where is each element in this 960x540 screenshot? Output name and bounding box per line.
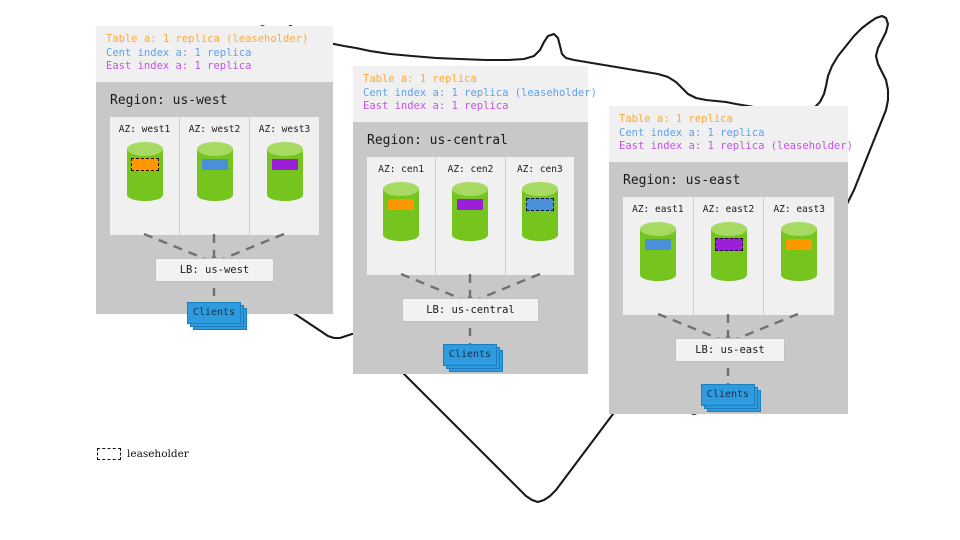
cylinder-bottom xyxy=(522,229,558,241)
legend-line-table: Table a: 1 replica xyxy=(363,73,578,87)
leaseholder-legend-label: leaseholder xyxy=(127,448,189,460)
leaseholder-legend: leaseholder xyxy=(97,448,189,460)
cylinder-bottom xyxy=(383,229,419,241)
az-label: AZ: east3 xyxy=(773,204,824,215)
az-column-cen3[interactable]: AZ: cen3 xyxy=(505,157,574,275)
database-cylinder-east1[interactable] xyxy=(640,222,676,288)
cylinder-bottom xyxy=(640,269,676,281)
az-panel-us-central: AZ: cen1 AZ: cen2 xyxy=(367,157,574,275)
legend-line-cent: Cent index a: 1 replica (leaseholder) xyxy=(363,87,578,101)
az-label: AZ: west2 xyxy=(189,124,240,135)
cylinder-bottom xyxy=(267,189,303,201)
legend-line-east: East index a: 1 replica (leaseholder) xyxy=(619,140,838,154)
az-label: AZ: east2 xyxy=(703,204,754,215)
az-column-west3[interactable]: AZ: west3 xyxy=(249,117,319,235)
clients-stack-us-east[interactable]: Clients xyxy=(701,384,755,406)
cylinder-top xyxy=(640,222,676,236)
region-panel-us-west[interactable]: Region: us-west AZ: west1 AZ: west2 xyxy=(96,82,333,314)
az-label: AZ: cen2 xyxy=(448,164,494,175)
load-balancer-us-central[interactable]: LB: us-central xyxy=(402,298,539,322)
az-panel-us-west: AZ: west1 AZ: west2 xyxy=(110,117,319,235)
legend-line-cent: Cent index a: 1 replica xyxy=(106,47,323,61)
database-cylinder-east2[interactable] xyxy=(711,222,747,288)
cylinder-bottom xyxy=(781,269,817,281)
cylinder-top xyxy=(197,142,233,156)
cylinder-top xyxy=(781,222,817,236)
database-cylinder-cen3[interactable] xyxy=(522,182,558,248)
load-balancer-us-west[interactable]: LB: us-west xyxy=(155,258,274,282)
az-label: AZ: cen1 xyxy=(378,164,424,175)
database-cylinder-west3[interactable] xyxy=(267,142,303,208)
cylinder-bottom xyxy=(452,229,488,241)
cylinder-top xyxy=(711,222,747,236)
az-label: AZ: west1 xyxy=(119,124,170,135)
replica-legend-us-east: Table a: 1 replica Cent index a: 1 repli… xyxy=(609,106,848,162)
database-cylinder-west1[interactable] xyxy=(127,142,163,208)
az-label: AZ: east1 xyxy=(632,204,683,215)
cylinder-top xyxy=(522,182,558,196)
az-column-cen2[interactable]: AZ: cen2 xyxy=(435,157,504,275)
load-balancer-us-east[interactable]: LB: us-east xyxy=(675,338,785,362)
replica-cent-index-a[interactable] xyxy=(645,239,671,250)
clients-stack-us-central[interactable]: Clients xyxy=(443,344,497,366)
legend-line-east: East index a: 1 replica xyxy=(363,100,578,114)
az-column-east1[interactable]: AZ: east1 xyxy=(623,197,693,315)
replica-cent-index-a[interactable] xyxy=(202,159,228,170)
region-cluster-us-central: Table a: 1 replica Cent index a: 1 repli… xyxy=(353,66,588,374)
replica-legend-us-central: Table a: 1 replica Cent index a: 1 repli… xyxy=(353,66,588,122)
clients-label: Clients xyxy=(187,302,241,324)
replica-table-a[interactable] xyxy=(786,239,812,250)
cylinder-top xyxy=(127,142,163,156)
cylinder-bottom xyxy=(197,189,233,201)
cylinder-top xyxy=(452,182,488,196)
legend-line-table: Table a: 1 replica xyxy=(619,113,838,127)
diagram-canvas: Table a: 1 replica (leaseholder) Cent in… xyxy=(0,0,960,540)
region-panel-us-central[interactable]: Region: us-central AZ: cen1 AZ: cen2 xyxy=(353,122,588,374)
cylinder-bottom xyxy=(127,189,163,201)
region-title: Region: us-west xyxy=(96,82,333,117)
replica-cent-index-a-leaseholder[interactable] xyxy=(526,198,554,211)
legend-line-cent: Cent index a: 1 replica xyxy=(619,127,838,141)
region-cluster-us-west: Table a: 1 replica (leaseholder) Cent in… xyxy=(96,26,333,314)
legend-line-east: East index a: 1 replica xyxy=(106,60,323,74)
cylinder-top xyxy=(383,182,419,196)
replica-legend-us-west: Table a: 1 replica (leaseholder) Cent in… xyxy=(96,26,333,82)
region-title: Region: us-east xyxy=(609,162,848,197)
az-column-east2[interactable]: AZ: east2 xyxy=(693,197,764,315)
replica-east-index-a[interactable] xyxy=(457,199,483,210)
database-cylinder-west2[interactable] xyxy=(197,142,233,208)
region-title: Region: us-central xyxy=(353,122,588,157)
cylinder-top xyxy=(267,142,303,156)
database-cylinder-cen2[interactable] xyxy=(452,182,488,248)
cylinder-bottom xyxy=(711,269,747,281)
clients-label: Clients xyxy=(443,344,497,366)
az-label: AZ: cen3 xyxy=(517,164,563,175)
az-column-east3[interactable]: AZ: east3 xyxy=(763,197,834,315)
region-cluster-us-east: Table a: 1 replica Cent index a: 1 repli… xyxy=(609,106,848,414)
replica-table-a-leaseholder[interactable] xyxy=(131,158,159,171)
replica-table-a[interactable] xyxy=(388,199,414,210)
az-panel-us-east: AZ: east1 AZ: east2 xyxy=(623,197,834,315)
database-cylinder-east3[interactable] xyxy=(781,222,817,288)
az-column-west2[interactable]: AZ: west2 xyxy=(179,117,249,235)
az-label: AZ: west3 xyxy=(259,124,310,135)
az-column-west1[interactable]: AZ: west1 xyxy=(110,117,179,235)
replica-east-index-a[interactable] xyxy=(272,159,298,170)
replica-east-index-a-leaseholder[interactable] xyxy=(715,238,743,251)
database-cylinder-cen1[interactable] xyxy=(383,182,419,248)
region-panel-us-east[interactable]: Region: us-east AZ: east1 AZ: east2 xyxy=(609,162,848,414)
clients-stack-us-west[interactable]: Clients xyxy=(187,302,241,324)
az-column-cen1[interactable]: AZ: cen1 xyxy=(367,157,435,275)
legend-line-table: Table a: 1 replica (leaseholder) xyxy=(106,33,323,47)
clients-label: Clients xyxy=(701,384,755,406)
dashed-rectangle-icon xyxy=(97,448,121,460)
